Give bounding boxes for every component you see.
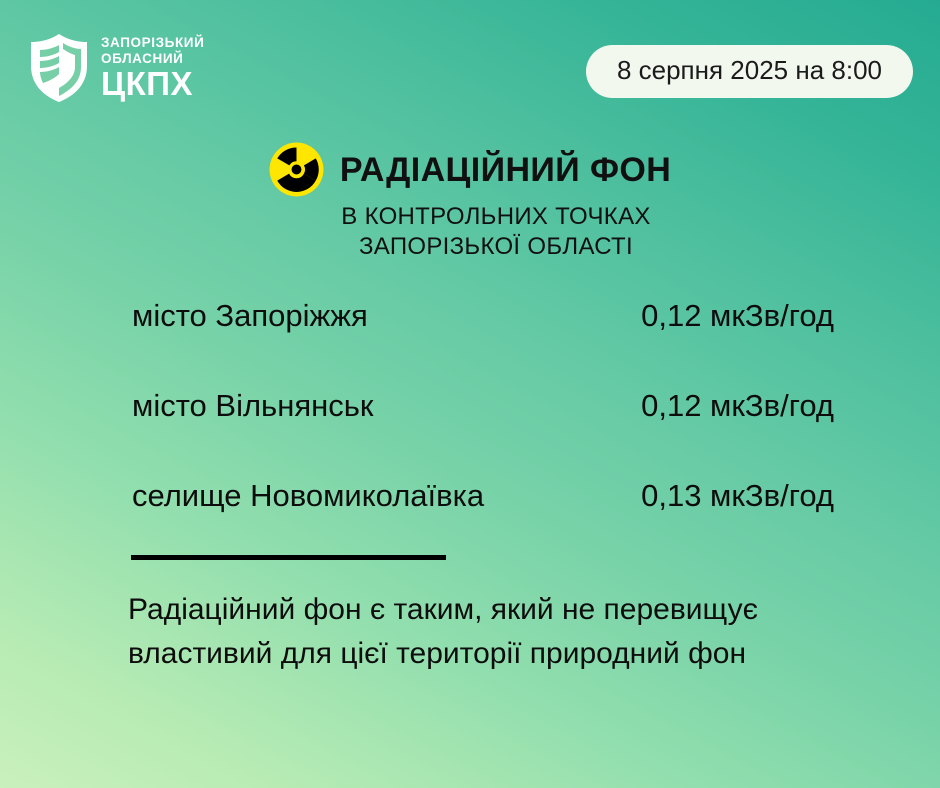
footnote-text: Радіаційний фон є таким, який не перевищ… — [128, 588, 888, 677]
footnote-line-2: властивий для цієї території природний ф… — [128, 632, 888, 676]
poster-canvas: ЗАПОРІЗЬКИЙ ОБЛАСНИЙ ЦКПХ 8 серпня 2025 … — [0, 0, 940, 788]
title-block: РАДІАЦІЙНИЙ ФОН В КОНТРОЛЬНИХ ТОЧКАХ ЗАП… — [0, 142, 940, 262]
shield-logo-icon — [28, 33, 90, 103]
measurement-location: місто Запоріжжя — [132, 300, 368, 331]
title-subtitle-line-2: ЗАПОРІЗЬКОЇ ОБЛАСТІ — [52, 232, 940, 262]
date-badge: 8 серпня 2025 на 8:00 — [586, 45, 913, 98]
brand-logo: ЗАПОРІЗЬКИЙ ОБЛАСНИЙ ЦКПХ — [28, 33, 204, 103]
page-title: РАДІАЦІЙНИЙ ФОН — [340, 153, 671, 187]
section-divider — [131, 555, 446, 560]
measurement-location: селище Новомиколаївка — [132, 480, 484, 511]
title-main-row: РАДІАЦІЙНИЙ ФОН — [0, 142, 940, 197]
measurement-value: 0,12 мкЗв/год — [641, 300, 834, 331]
measurement-list: місто Запоріжжя 0,12 мкЗв/год місто Віль… — [132, 300, 834, 570]
measurement-row: місто Вільнянськ 0,12 мкЗв/год — [132, 390, 834, 480]
footnote-line-1: Радіаційний фон є таким, який не перевищ… — [128, 588, 888, 632]
brand-line-2: ОБЛАСНИЙ — [101, 51, 204, 67]
radiation-trefoil-icon — [269, 142, 324, 197]
measurement-value: 0,12 мкЗв/год — [641, 390, 834, 421]
measurement-value: 0,13 мкЗв/год — [641, 480, 834, 511]
measurement-location: місто Вільнянськ — [132, 390, 373, 421]
title-subtitle: В КОНТРОЛЬНИХ ТОЧКАХ ЗАПОРІЗЬКОЇ ОБЛАСТІ — [0, 202, 940, 262]
measurement-row: місто Запоріжжя 0,12 мкЗв/год — [132, 300, 834, 390]
brand-abbreviation: ЦКПХ — [101, 67, 204, 101]
brand-line-1: ЗАПОРІЗЬКИЙ — [101, 35, 204, 51]
title-subtitle-line-1: В КОНТРОЛЬНИХ ТОЧКАХ — [52, 202, 940, 232]
brand-text-block: ЗАПОРІЗЬКИЙ ОБЛАСНИЙ ЦКПХ — [101, 35, 204, 101]
